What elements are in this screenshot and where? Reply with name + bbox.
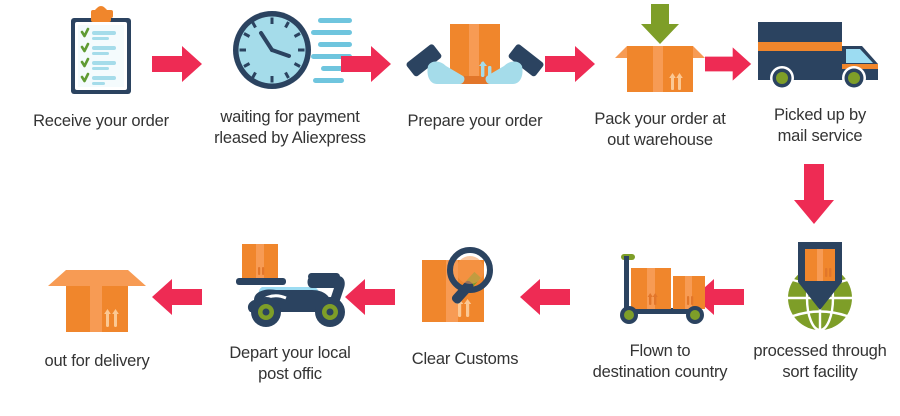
step-clear-customs[interactable]: Clear Customs bbox=[390, 244, 540, 370]
step-label: Depart your local post offic bbox=[229, 343, 350, 385]
step-out-for-delivery[interactable]: out for delivery bbox=[22, 246, 172, 372]
step-picked-up[interactable]: Picked up by mail service bbox=[745, 12, 895, 147]
step-label: Clear Customs bbox=[412, 349, 519, 370]
connector-arrow-down bbox=[792, 164, 836, 226]
globe-location-pin-box-icon bbox=[765, 236, 875, 337]
process-flow-diagram: Receive your order bbox=[0, 0, 900, 416]
step-prepare-order[interactable]: Prepare your order bbox=[385, 14, 565, 132]
delivery-truck-icon bbox=[750, 12, 890, 99]
step-label: Picked up by mail service bbox=[774, 105, 866, 147]
clipboard-checklist-icon bbox=[65, 4, 137, 101]
step-label: Pack your order at out warehouse bbox=[594, 109, 725, 151]
connector-arrow-right bbox=[152, 44, 204, 84]
step-label: out for delivery bbox=[44, 351, 149, 372]
step-label: processed through sort facility bbox=[753, 341, 886, 383]
hands-holding-box-icon bbox=[405, 14, 545, 99]
step-label: waiting for payment rleased by Aliexpres… bbox=[214, 107, 366, 149]
step-label: Receive your order bbox=[33, 111, 169, 132]
open-box-down-arrow-icon bbox=[605, 2, 715, 101]
delivery-scooter-icon bbox=[220, 240, 360, 337]
clock-icon bbox=[225, 6, 355, 99]
step-depart-post-office[interactable]: Depart your local post offic bbox=[205, 240, 375, 385]
luggage-cart-boxes-icon bbox=[601, 246, 719, 331]
step-sort-facility[interactable]: processed through sort facility bbox=[740, 236, 900, 383]
box-magnifier-icon bbox=[410, 244, 520, 335]
open-box-icon bbox=[42, 246, 152, 337]
step-label: Flown to destination country bbox=[593, 341, 728, 383]
step-label: Prepare your order bbox=[408, 111, 543, 132]
step-flown-destination[interactable]: Flown to destination country bbox=[565, 246, 755, 383]
